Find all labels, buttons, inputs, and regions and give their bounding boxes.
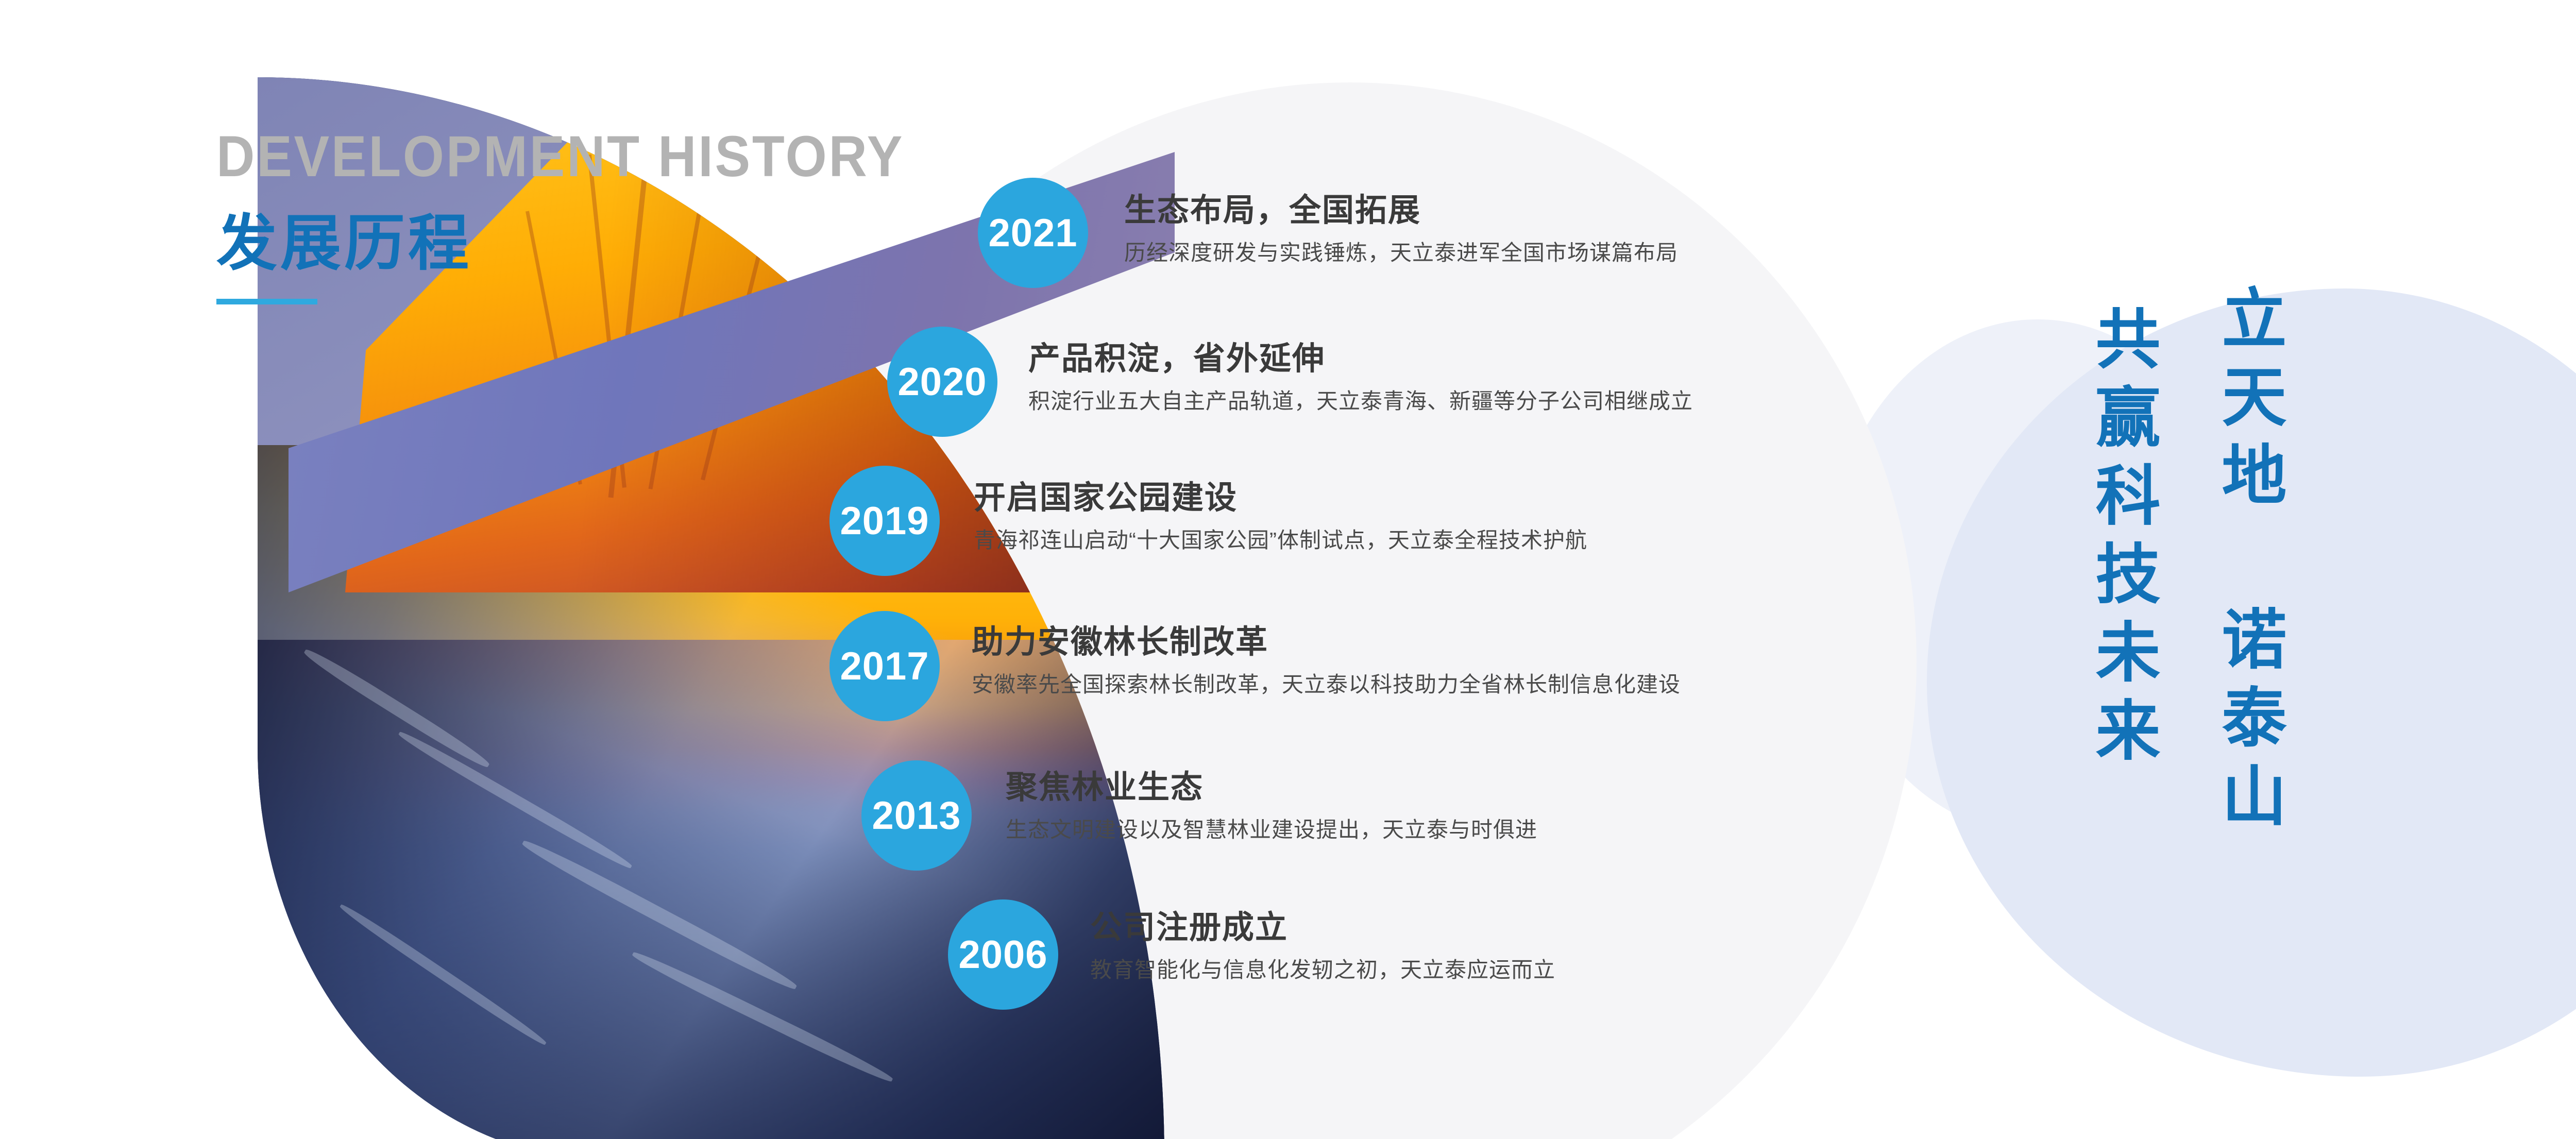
- timeline-entry-title: 开启国家公园建设: [974, 482, 1587, 514]
- timeline-entry-title: 生态布局，全国拓展: [1124, 195, 1678, 227]
- timeline-year-badge[interactable]: 2021: [978, 178, 1088, 288]
- timeline-entry-desc: 生态文明建设以及智慧林业建设提出，天立泰与时俱进: [1006, 819, 1537, 841]
- timeline-entry-title: 助力安徽林长制改革: [972, 626, 1681, 658]
- timeline: 2021 生态布局，全国拓展 历经深度研发与实践锤炼，天立泰进军全国市场谋篇布局…: [0, 0, 2576, 1139]
- timeline-entry-title: 公司注册成立: [1090, 912, 1555, 944]
- timeline-entry-text: 助力安徽林长制改革 安徽率先全国探索林长制改革，天立泰以科技助力全省林长制信息化…: [972, 626, 1681, 695]
- timeline-entry-desc: 历经深度研发与实践锤炼，天立泰进军全国市场谋篇布局: [1124, 242, 1678, 264]
- timeline-year-badge[interactable]: 2017: [829, 611, 940, 721]
- timeline-entry-text: 公司注册成立 教育智能化与信息化发轫之初，天立泰应运而立: [1090, 912, 1555, 981]
- timeline-year-badge[interactable]: 2019: [829, 466, 940, 576]
- timeline-year-badge[interactable]: 2013: [861, 760, 972, 871]
- timeline-entry-text: 产品积淀，省外延伸 积淀行业五大自主产品轨道，天立泰青海、新疆等分子公司相继成立: [1028, 343, 1693, 412]
- timeline-year-badge[interactable]: 2020: [887, 327, 997, 437]
- timeline-entry-text: 聚焦林业生态 生态文明建设以及智慧林业建设提出，天立泰与时俱进: [1006, 772, 1537, 841]
- timeline-entry-title: 产品积淀，省外延伸: [1028, 343, 1693, 375]
- timeline-entry-desc: 安徽率先全国探索林长制改革，天立泰以科技助力全省林长制信息化建设: [972, 674, 1681, 695]
- timeline-entry-text: 开启国家公园建设 青海祁连山启动“十大国家公园”体制试点，天立泰全程技术护航: [974, 482, 1587, 551]
- timeline-entry-text: 生态布局，全国拓展 历经深度研发与实践锤炼，天立泰进军全国市场谋篇布局: [1124, 195, 1678, 264]
- timeline-entry-desc: 积淀行业五大自主产品轨道，天立泰青海、新疆等分子公司相继成立: [1028, 390, 1693, 412]
- timeline-entry-title: 聚焦林业生态: [1006, 772, 1537, 804]
- timeline-entry-desc: 青海祁连山启动“十大国家公园”体制试点，天立泰全程技术护航: [974, 530, 1587, 551]
- slogan-column-left: 共赢科技未来: [2089, 305, 2156, 775]
- slogan-column-right: 立天地 诺泰山: [2215, 284, 2282, 840]
- timeline-year-badge[interactable]: 2006: [948, 899, 1058, 1010]
- slide-canvas: DEVELOPMENT HISTORY 发展历程 2021 生态布局，全国拓展 …: [0, 0, 2576, 1139]
- timeline-entry-desc: 教育智能化与信息化发轫之初，天立泰应运而立: [1090, 959, 1555, 981]
